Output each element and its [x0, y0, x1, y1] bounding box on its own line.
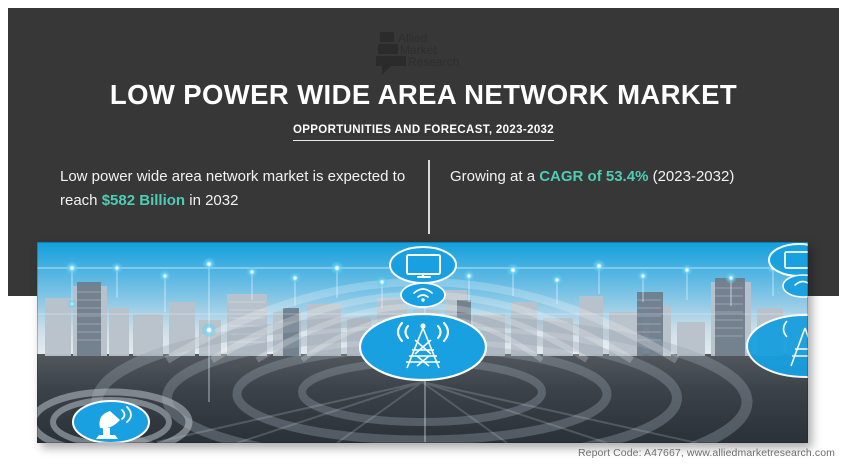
page-subtitle: OPPORTUNITIES AND FORECAST, 2023-2032: [293, 124, 554, 141]
stat-market-size: Low power wide area network market is ex…: [60, 165, 410, 213]
stats-divider: [428, 160, 430, 234]
hero-graphic: [37, 242, 808, 443]
stat-left-text-after: in 2032: [185, 192, 238, 209]
stat-right-text-after: (2023-2032): [648, 168, 734, 185]
stat-right-text-before: Growing at a: [450, 168, 539, 185]
cell-tower-icon: [360, 314, 486, 380]
report-code-footer: Report Code: A47667, www.alliedmarketres…: [578, 447, 835, 459]
stat-cagr: Growing at a CAGR of 53.4% (2023-2032): [450, 165, 820, 189]
logo-line-3: Research: [408, 55, 459, 69]
wifi-icon: [401, 283, 445, 307]
smart-city-network-illustration: [37, 242, 808, 443]
page-subtitle-wrapper: OPPORTUNITIES AND FORECAST, 2023-2032: [8, 120, 839, 141]
allied-market-research-logo: Allied Market Research: [370, 30, 478, 76]
stat-right-highlight: CAGR of 53.4%: [539, 168, 648, 185]
stat-left-highlight: $582 Billion: [102, 192, 185, 209]
infographic-page: Allied Market Research LOW POWER WIDE AR…: [0, 0, 847, 470]
monitor-icon: [390, 247, 456, 283]
stats-row: Low power wide area network market is ex…: [8, 158, 839, 238]
logo-mark: Allied Market Research: [370, 30, 478, 76]
page-title: LOW POWER WIDE AREA NETWORK MARKET: [8, 79, 839, 111]
